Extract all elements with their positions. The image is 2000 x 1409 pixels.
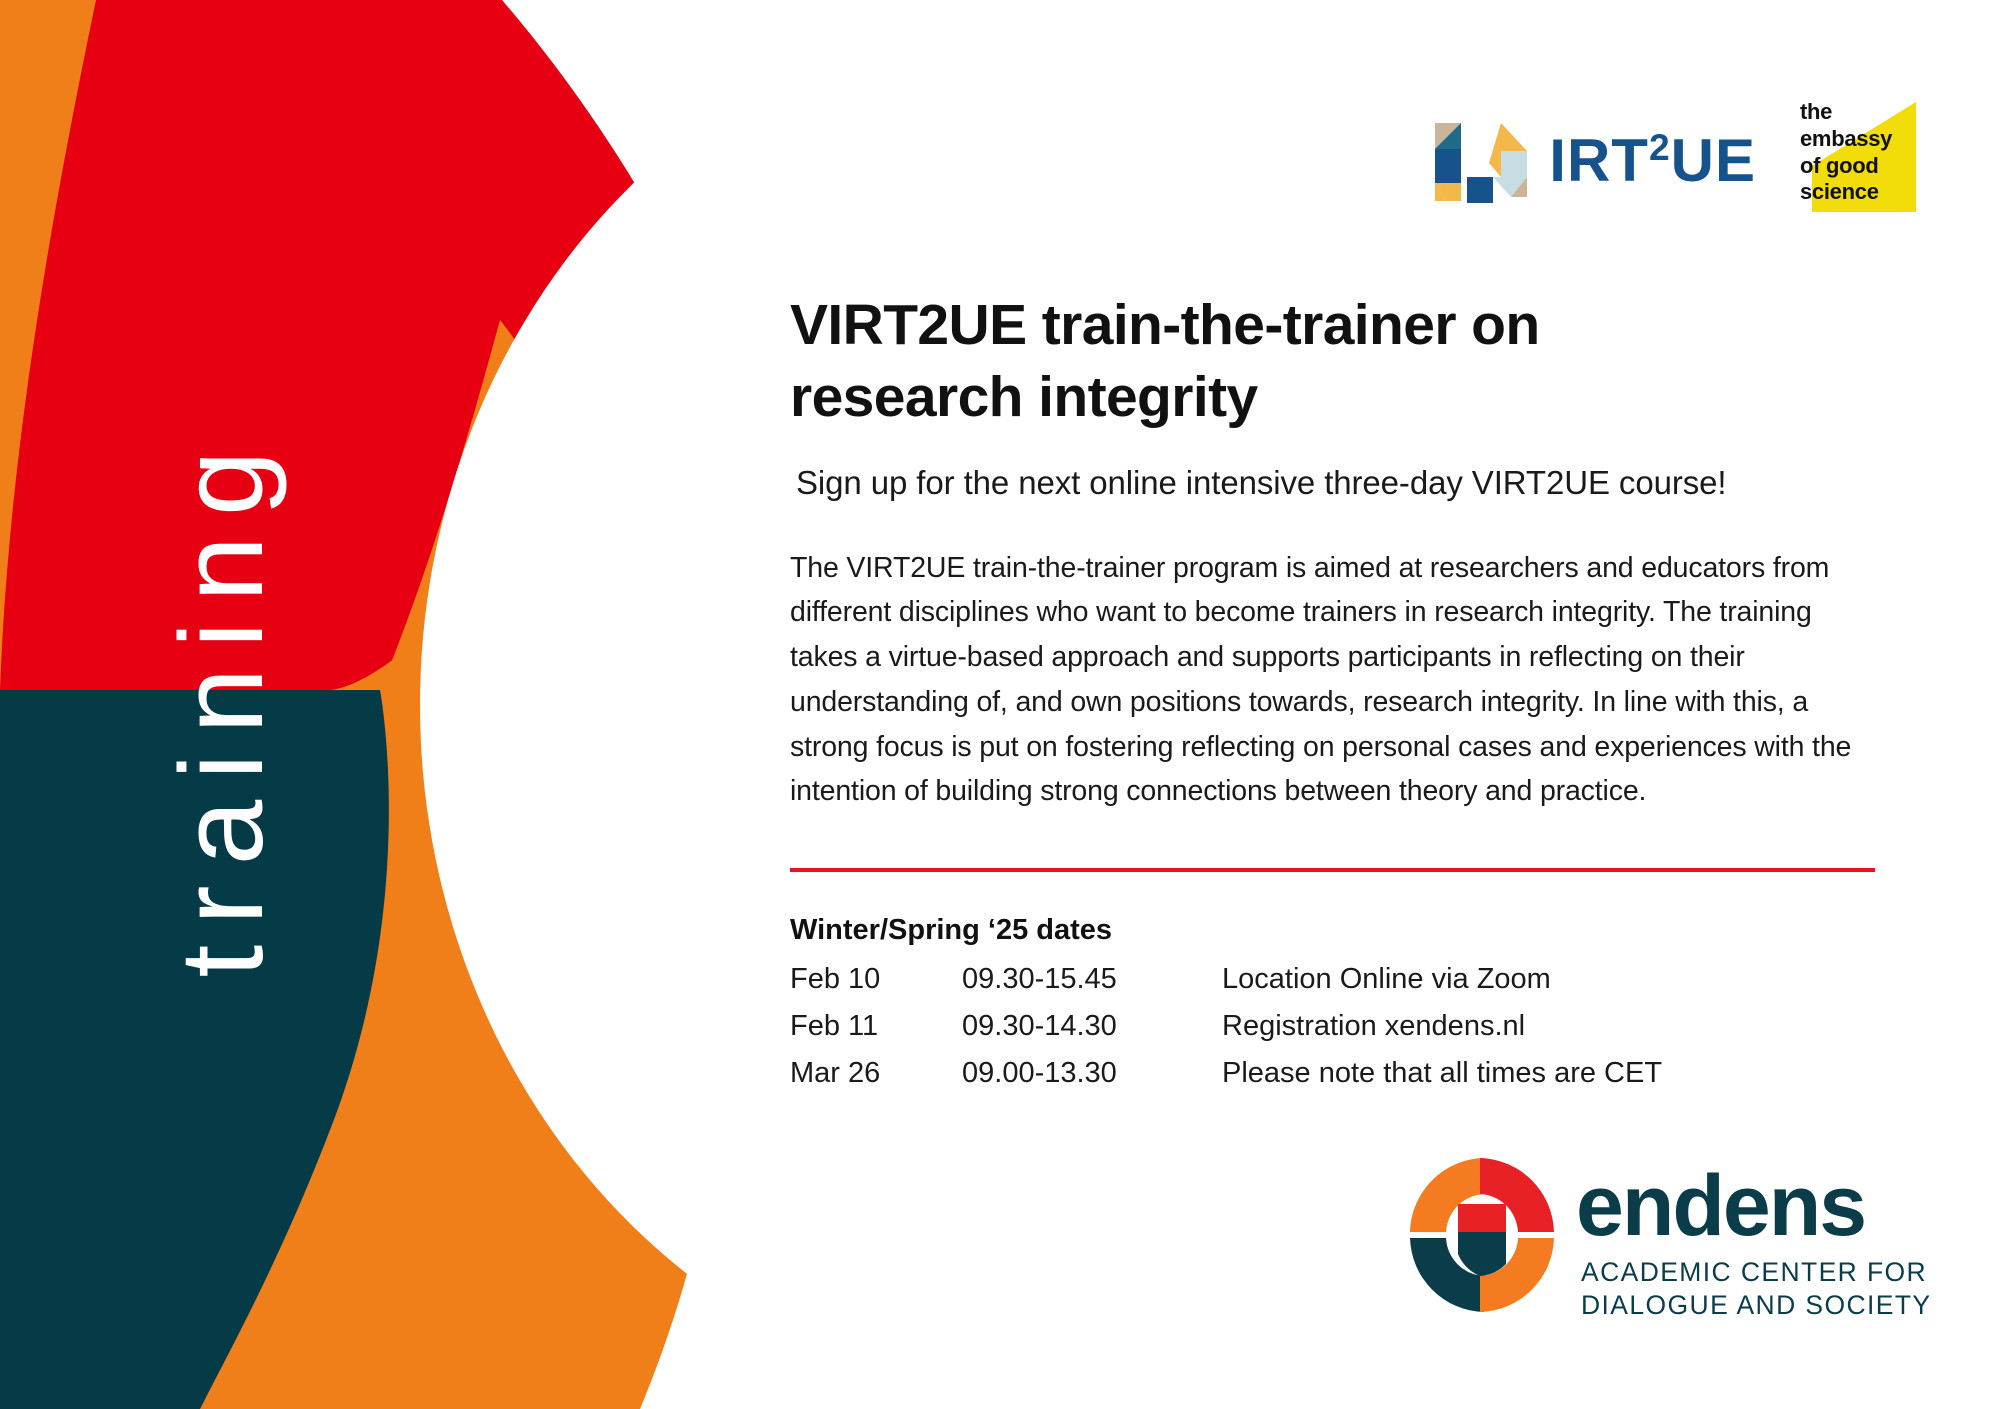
xendens-tagline-line-2: DIALOGUE AND SOCIETY (1581, 1289, 1932, 1322)
xendens-tagline: ACADEMIC CENTER FOR DIALOGUE AND SOCIETY (1581, 1256, 1932, 1323)
table-row: Feb 11 09.30-14.30 Registration xendens.… (790, 1010, 1742, 1057)
page-title: VIRT2UE train-the-trainer on research in… (790, 290, 1710, 434)
decorative-graphic (0, 0, 920, 1409)
xendens-x-mark (1396, 1144, 1568, 1326)
info-cell: Registration xendens.nl (1222, 1010, 1742, 1057)
poster: training IRT2UE (0, 0, 2000, 1409)
virt2ue-v-mark (1431, 111, 1539, 203)
divider-rule (790, 868, 1875, 872)
page-subtitle: Sign up for the next online intensive th… (796, 464, 1880, 502)
table-row: Feb 10 09.30-15.45 Location Online via Z… (790, 963, 1742, 1010)
dates-section: Winter/Spring ‘25 dates Feb 10 09.30-15.… (790, 914, 1880, 1104)
embassy-line-1: the (1800, 99, 1892, 126)
virt2ue-word-before: IRT (1549, 127, 1649, 194)
page-title-line-1: VIRT2UE train-the-trainer on (790, 293, 1540, 357)
info-cell: Please note that all times are CET (1222, 1057, 1742, 1104)
time-cell: 09.30-14.30 (962, 1010, 1222, 1057)
virt2ue-logo: IRT2UE (1431, 111, 1756, 203)
date-cell: Mar 26 (790, 1057, 962, 1104)
dates-table: Feb 10 09.30-15.45 Location Online via Z… (790, 963, 1742, 1104)
xendens-text-group: endens ACADEMIC CENTER FOR DIALOGUE AND … (1576, 1166, 1932, 1322)
time-cell: 09.00-13.30 (962, 1057, 1222, 1104)
embassy-line-4: science (1800, 179, 1892, 206)
time-cell: 09.30-15.45 (962, 963, 1222, 1010)
xendens-wordmark: endens (1576, 1166, 1932, 1248)
xendens-tagline-line-1: ACADEMIC CENTER FOR (1581, 1256, 1932, 1289)
dates-heading: Winter/Spring ‘25 dates (790, 914, 1880, 947)
date-cell: Feb 10 (790, 963, 962, 1010)
embassy-of-good-science-logo: the embassy of good science (1794, 96, 1934, 218)
virt2ue-word-after: UE (1671, 127, 1756, 194)
dates-table-body: Feb 10 09.30-15.45 Location Online via Z… (790, 963, 1742, 1104)
table-row: Mar 26 09.00-13.30 Please note that all … (790, 1057, 1742, 1104)
date-cell: Feb 11 (790, 1010, 962, 1057)
xendens-logo: endens ACADEMIC CENTER FOR DIALOGUE AND … (1396, 1144, 1932, 1326)
embassy-line-3: of good (1800, 153, 1892, 180)
info-cell: Location Online via Zoom (1222, 963, 1742, 1010)
main-content: VIRT2UE train-the-trainer on research in… (790, 290, 1880, 1104)
page-title-line-2: research integrity (790, 365, 1258, 429)
body-paragraph: The VIRT2UE train-the-trainer program is… (790, 546, 1865, 814)
top-logo-group: IRT2UE the embassy of good science (1431, 96, 1934, 218)
virt2ue-wordmark: IRT2UE (1549, 131, 1756, 191)
embassy-text-block: the embassy of good science (1800, 99, 1892, 206)
virt2ue-superscript: 2 (1649, 126, 1671, 168)
embassy-line-2: embassy (1800, 126, 1892, 153)
